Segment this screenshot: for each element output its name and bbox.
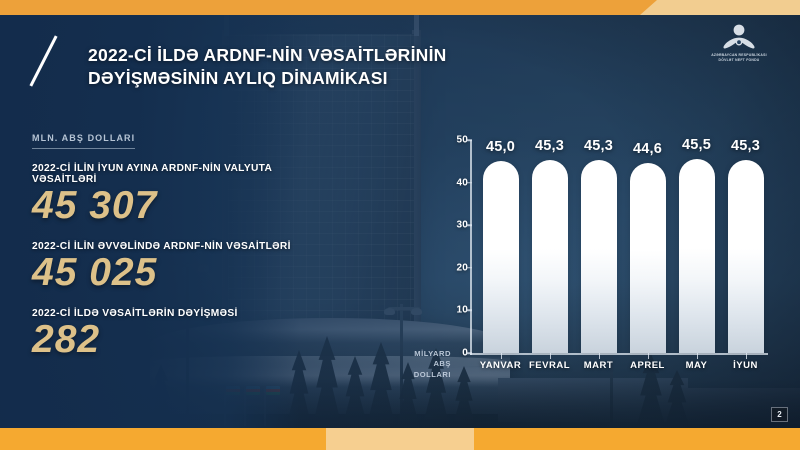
y-axis-tick-label: 20: [448, 262, 468, 273]
bar-value-label: 45,5: [682, 137, 711, 153]
y-axis-tick-label: 40: [448, 177, 468, 188]
bar-chart: 01020304050 45,045,345,344,645,545,3 YAN…: [452, 132, 772, 372]
x-axis-tick-label: MART: [584, 360, 613, 371]
x-axis-tick-mark: [746, 353, 748, 359]
stat-item: 2022-Cİ İLİN İYUN AYINA ARDNF-NİN VALYUT…: [32, 163, 332, 227]
sofaz-emblem-icon: [722, 24, 756, 50]
stat-item: 2022-Cİ İLİN ƏVVƏLİNDƏ ARDNF-NİN VƏSAİTL…: [32, 241, 332, 294]
stat-value: 282: [32, 320, 332, 361]
chart-unit-label: MİLYARD ABŞ DOLLARI: [399, 349, 451, 380]
infographic-slide: 2022-Cİ İLDƏ ARDNF-NİN VƏSAİTLƏRİNİN DƏY…: [0, 0, 800, 450]
y-axis-tick-mark: [466, 352, 472, 354]
bar[interactable]: [679, 159, 715, 353]
bar-column[interactable]: 45,0: [483, 140, 519, 353]
y-axis-tick-mark: [466, 310, 472, 312]
x-axis-tick-mark: [550, 353, 552, 359]
bar[interactable]: [630, 163, 666, 353]
bar-value-label: 45,0: [486, 139, 515, 155]
bar-series: 45,045,345,344,645,545,3: [474, 140, 770, 353]
bar-column[interactable]: 45,5: [679, 140, 715, 353]
y-axis-tick-label: 50: [448, 135, 468, 146]
bar-value-label: 45,3: [584, 138, 613, 154]
stat-label: 2022-Cİ İLİN İYUN AYINA ARDNF-NİN VALYUT…: [32, 163, 332, 185]
sofaz-logo-text: AZƏRBAYCAN RESPUBLİKASI DÖVLƏT NEFT FOND…: [700, 53, 778, 63]
stats-block: MLN. ABŞ DOLLARI 2022-Cİ İLİN İYUN AYINA…: [32, 128, 332, 361]
bar[interactable]: [581, 160, 617, 353]
bar-column[interactable]: 45,3: [581, 140, 617, 353]
bar-value-label: 45,3: [535, 138, 564, 154]
y-axis-tick-label: 10: [448, 305, 468, 316]
bar-value-label: 44,6: [633, 141, 662, 157]
y-axis-tick-mark: [466, 139, 472, 141]
page-title: 2022-Cİ İLDƏ ARDNF-NİN VƏSAİTLƏRİNİN DƏY…: [88, 44, 488, 90]
page-number: 2: [771, 407, 788, 422]
bar-column[interactable]: 44,6: [630, 140, 666, 353]
x-axis-tick-label: İYUN: [733, 360, 758, 371]
x-axis-tick-mark: [599, 353, 601, 359]
bar-column[interactable]: 45,3: [532, 140, 568, 353]
x-axis: [470, 353, 768, 355]
y-axis: [470, 140, 472, 355]
y-axis-tick-mark: [466, 267, 472, 269]
stat-value: 45 025: [32, 253, 332, 294]
x-axis-tick-label: YANVAR: [480, 360, 522, 371]
top-accent-bar-highlight: [640, 0, 800, 15]
stat-item: 2022-Cİ İLDƏ VƏSAİTLƏRİN DƏYİŞMƏSİ 282: [32, 308, 332, 361]
bar[interactable]: [532, 160, 568, 353]
y-axis-tick-mark: [466, 224, 472, 226]
x-axis-tick-mark: [648, 353, 650, 359]
stat-value: 45 307: [32, 186, 332, 227]
bottom-accent-bar-highlight: [326, 428, 474, 450]
bar-column[interactable]: 45,3: [728, 140, 764, 353]
y-axis-tick-label: 0: [448, 348, 468, 359]
x-axis-tick-label: MAY: [686, 360, 708, 371]
y-axis-tick-label: 30: [448, 220, 468, 231]
bar[interactable]: [728, 160, 764, 353]
stats-unit-label: MLN. ABŞ DOLLARI: [32, 133, 135, 149]
x-axis-tick-label: FEVRAL: [529, 360, 570, 371]
bar-value-label: 45,3: [731, 138, 760, 154]
x-axis-tick-label: APREL: [630, 360, 665, 371]
bar[interactable]: [483, 161, 519, 353]
x-axis-tick-mark: [501, 353, 503, 359]
x-axis-tick-mark: [697, 353, 699, 359]
sofaz-logo: AZƏRBAYCAN RESPUBLİKASI DÖVLƏT NEFT FOND…: [700, 24, 778, 63]
y-axis-tick-mark: [466, 182, 472, 184]
